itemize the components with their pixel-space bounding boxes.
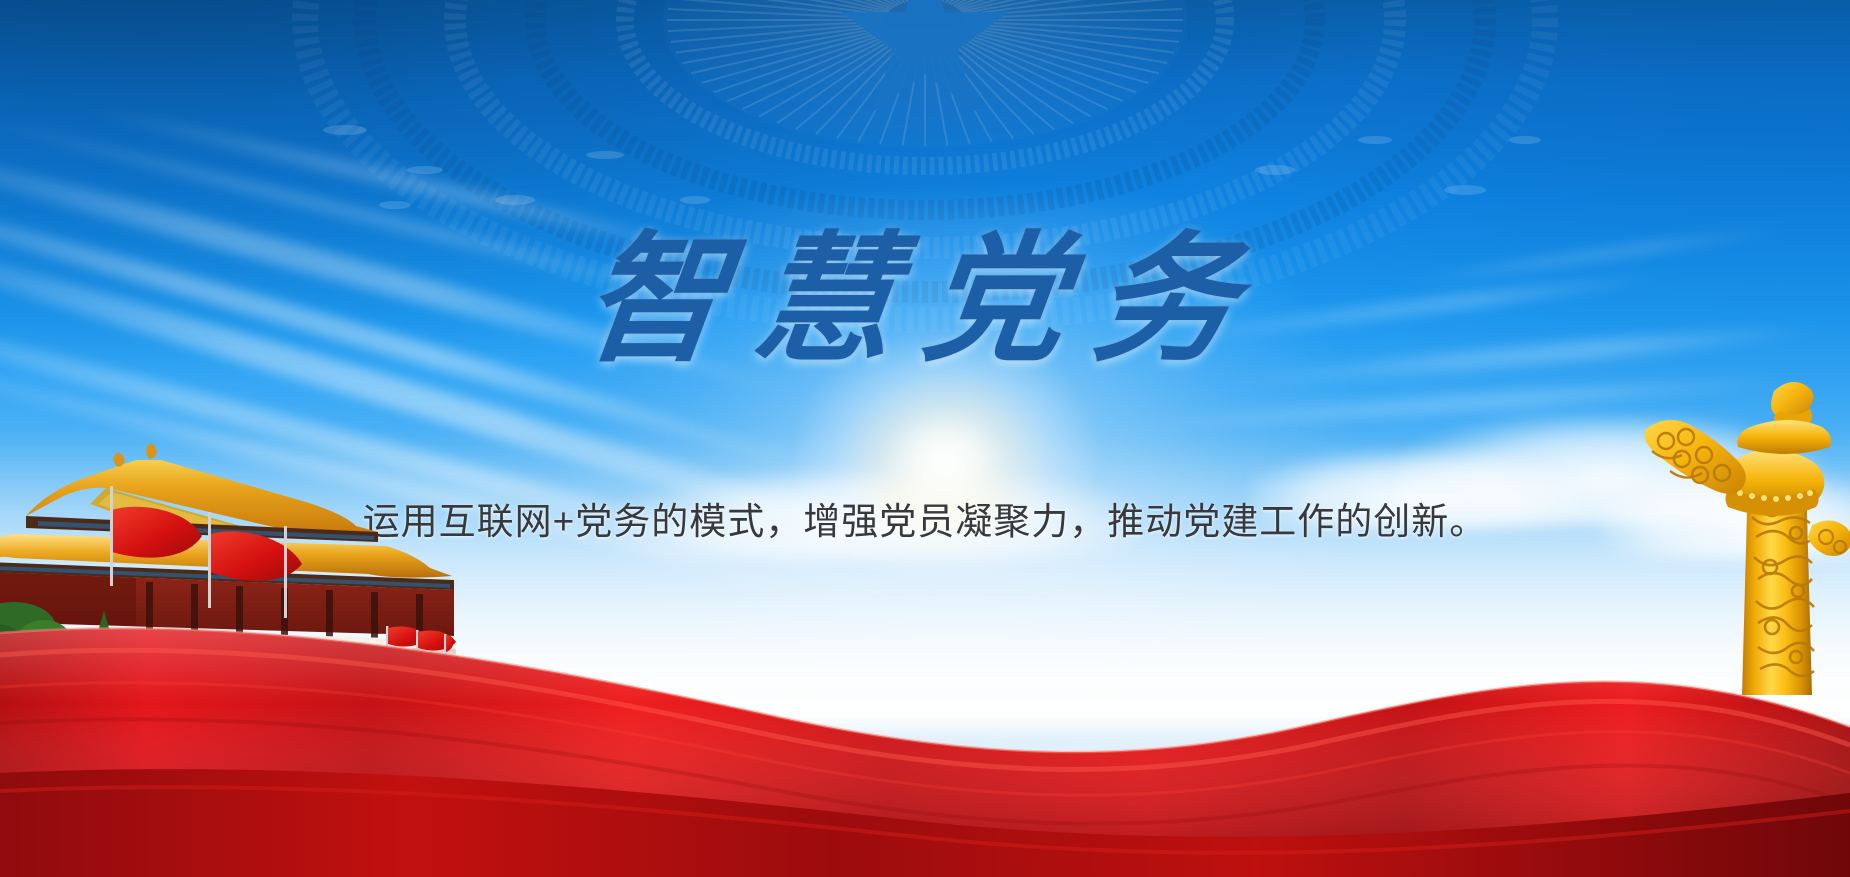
smart-party-affairs-banner: 智慧党务 运用互联网+党务的模式，增强党员凝聚力，推动党建工作的创新。 xyxy=(0,0,1850,877)
red-silk-ribbon xyxy=(0,577,1850,877)
page-title: 智慧党务 xyxy=(0,222,1850,379)
